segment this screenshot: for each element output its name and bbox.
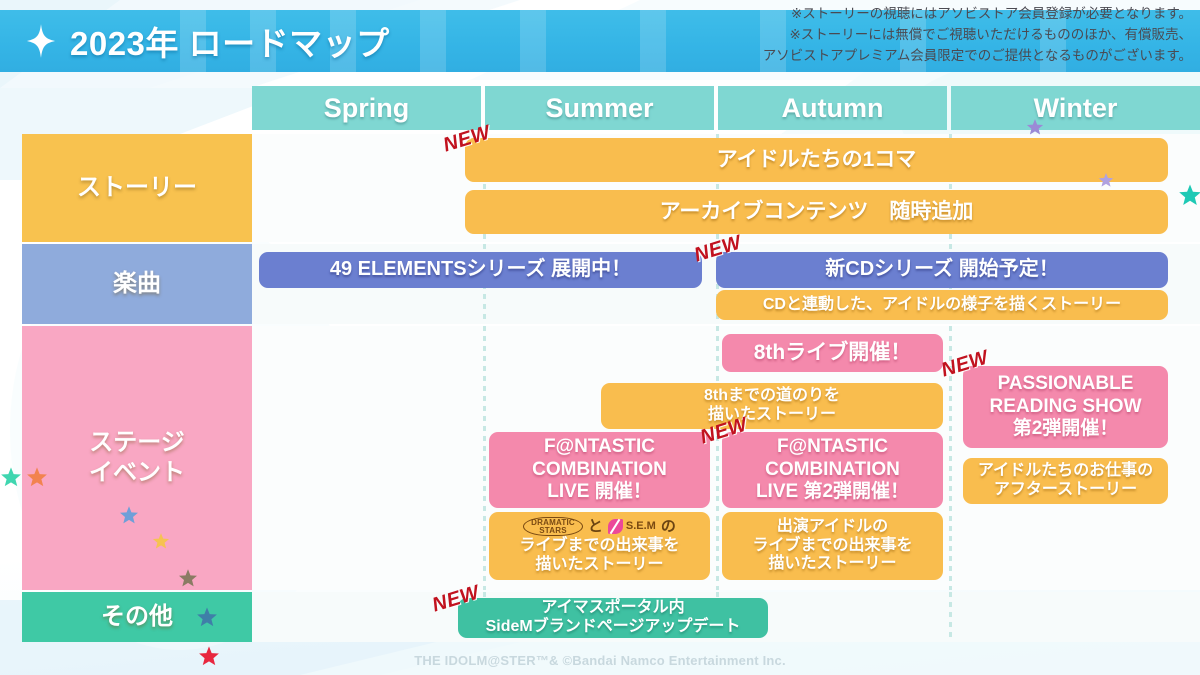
music-item-new-cd-series[interactable]: 新CDシリーズ 開始予定！ xyxy=(716,252,1168,288)
disclaimer-line-3: アソビストアプレミアム会員限定でのご提供となるものがございます。 xyxy=(763,46,1192,67)
sem-logo-icon: S.E.M xyxy=(608,519,656,534)
row-label-stage-event: ステージ イベント xyxy=(22,326,252,590)
row-label-text: ストーリー xyxy=(77,173,197,203)
caption-line-3: 描いたストーリー xyxy=(535,556,663,575)
title-line-3: LIVE 第2弾開催！ xyxy=(756,481,909,503)
row-label-text-line2: イベント xyxy=(89,458,185,488)
row-label-text: その他 xyxy=(101,602,173,632)
season-label: Winter xyxy=(1034,93,1118,124)
star-icon xyxy=(1026,118,1044,136)
stage-item-fantastic-summer-caption[interactable]: DRAMATIC STARS と S.E.M の ライブまでの出来事を 描いたス… xyxy=(489,512,710,580)
caption-logo-row: DRAMATIC STARS と S.E.M の xyxy=(523,517,676,536)
row-label-text-line1: ステージ xyxy=(89,428,185,458)
star-icon xyxy=(0,466,22,488)
stage-item-passionable-reading-show[interactable]: PASSIONABLE READING SHOW 第2弾開催！ xyxy=(963,366,1168,448)
music-item-49-elements[interactable]: 49 ELEMENTSシリーズ 展開中！ xyxy=(259,252,702,288)
roadmap-grid: Spring Summer Autumn Winter ストーリー アイドルたち… xyxy=(0,0,1200,675)
caption-line-1: アイドルたちのお仕事の xyxy=(978,462,1153,481)
music-item-new-cd-caption[interactable]: CDと連動した、アイドルの様子を描くストーリー xyxy=(716,290,1168,320)
season-label: Autumn xyxy=(782,93,884,124)
caption-line-2: ライブまでの出来事を xyxy=(752,537,912,556)
title-line-3: LIVE 開催！ xyxy=(547,481,652,503)
title-line-2: COMBINATION xyxy=(532,459,667,481)
title-line-1: F@NTASTIC xyxy=(544,436,655,458)
sem-logo-label: S.E.M xyxy=(626,520,656,533)
story-item-label: アーカイブコンテンツ 随時追加 xyxy=(660,200,974,225)
season-header-spring: Spring xyxy=(252,86,481,130)
other-item-line-2: SideMブランドページアップデート xyxy=(486,618,741,637)
stage-item-8th-live[interactable]: 8thライブ開催！ xyxy=(722,334,943,372)
caption-line-3: 描いたストーリー xyxy=(768,555,896,574)
copyright-text: THE IDOLM@STER™& ©Bandai Namco Entertain… xyxy=(414,653,786,668)
season-header-winter: Winter xyxy=(951,86,1200,130)
disclaimer-note: ※ストーリーの視聴にはアソビストア会員登録が必要となります。 ※ストーリーには無… xyxy=(763,4,1192,67)
stage-item-fantastic-combination-live[interactable]: F@NTASTIC COMBINATION LIVE 開催！ xyxy=(489,432,710,508)
star-icon xyxy=(119,505,139,525)
row-label-text: 楽曲 xyxy=(113,269,161,299)
connector-to: と xyxy=(588,518,603,536)
ds-logo-line-2: STARS xyxy=(539,527,567,535)
star-icon xyxy=(178,568,198,588)
stage-item-fantastic-autumn-caption[interactable]: 出演アイドルの ライブまでの出来事を 描いたストーリー xyxy=(722,512,943,580)
music-item-label: 新CDシリーズ 開始予定！ xyxy=(825,258,1058,282)
story-item-idol-1koma[interactable]: アイドルたちの1コマ xyxy=(465,138,1168,182)
disclaimer-line-2: ※ストーリーには無償でご視聴いただけるもののほか、有償販売、 xyxy=(763,25,1192,46)
season-header-summer: Summer xyxy=(485,86,714,130)
season-label: Spring xyxy=(324,93,410,124)
caption-line-2: ライブまでの出来事を xyxy=(519,537,679,556)
story-item-label: アイドルたちの1コマ xyxy=(717,148,917,173)
title-line-3: 第2弾開催！ xyxy=(1013,418,1119,440)
row-label-story: ストーリー xyxy=(22,134,252,242)
season-label: Summer xyxy=(545,93,653,124)
title-line-2: READING SHOW xyxy=(990,396,1142,418)
title-line-1: F@NTASTIC xyxy=(777,436,888,458)
star-icon xyxy=(152,532,170,550)
disclaimer-line-1: ※ストーリーの視聴にはアソビストア会員登録が必要となります。 xyxy=(763,4,1192,25)
star-icon xyxy=(26,466,48,488)
caption-line-2: アフターストーリー xyxy=(994,481,1137,500)
caption-line-1: 出演アイドルの xyxy=(777,518,888,537)
caption-line-1: 8thまでの道のりを xyxy=(704,387,840,406)
star-icon xyxy=(196,606,218,628)
stage-item-fantastic-combination-live-2[interactable]: F@NTASTIC COMBINATION LIVE 第2弾開催！ xyxy=(722,432,943,508)
title-line-2: COMBINATION xyxy=(765,459,900,481)
title-line-1: PASSIONABLE xyxy=(998,373,1134,395)
star-icon xyxy=(1178,183,1200,207)
music-item-label: 49 ELEMENTSシリーズ 展開中！ xyxy=(330,258,631,282)
other-item-line-1: アイマスポータル内 xyxy=(541,599,684,618)
stage-item-8th-caption[interactable]: 8thまでの道のりを 描いたストーリー xyxy=(601,383,943,429)
sem-mark-icon xyxy=(608,519,623,534)
music-item-caption: CDと連動した、アイドルの様子を描くストーリー xyxy=(763,296,1121,315)
star-icon xyxy=(1098,172,1114,188)
season-header-autumn: Autumn xyxy=(718,86,947,130)
stage-item-passionable-caption[interactable]: アイドルたちのお仕事の アフターストーリー xyxy=(963,458,1168,504)
stage-item-label: 8thライブ開催！ xyxy=(754,341,912,366)
connector-no: の xyxy=(661,518,676,536)
copyright-footer: THE IDOLM@STER™& ©Bandai Namco Entertain… xyxy=(0,653,1200,668)
other-item-sidem-brand-page[interactable]: アイマスポータル内 SideMブランドページアップデート xyxy=(458,598,768,638)
row-label-music: 楽曲 xyxy=(22,244,252,324)
story-item-archive[interactable]: アーカイブコンテンツ 随時追加 xyxy=(465,190,1168,234)
dramatic-stars-logo-icon: DRAMATIC STARS xyxy=(523,517,583,536)
